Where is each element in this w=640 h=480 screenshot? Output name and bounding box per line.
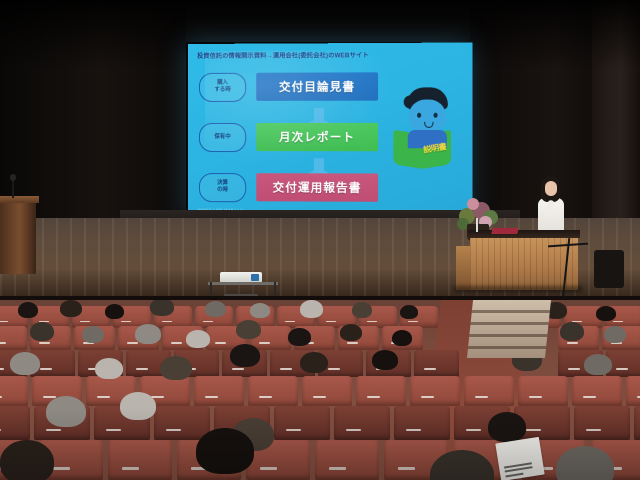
audience-member-head: [584, 354, 612, 375]
seat-number-tag: [328, 368, 340, 370]
seat-number-tag: [406, 429, 421, 431]
seat-number-tag: [408, 321, 418, 323]
audience-member-head: [60, 300, 82, 317]
stage-chair: [594, 250, 624, 288]
audience-member-head: [10, 352, 40, 375]
auditorium-seat: [302, 376, 352, 406]
audience-member-head: [596, 306, 616, 321]
audience-member-head: [160, 356, 192, 380]
seat-number-tag: [367, 396, 380, 398]
seat-number-tag: [0, 342, 6, 344]
seat-number-tag: [326, 321, 336, 323]
seat-number-tag: [568, 368, 580, 370]
boy-eye-right: [434, 113, 438, 118]
presenter-face: [545, 181, 557, 196]
auditorium-seat: [315, 440, 379, 480]
boy-mouth: [424, 122, 433, 128]
seat-number-tag: [215, 342, 226, 344]
seat-number-tag: [346, 429, 361, 431]
auditorium-seat: [108, 440, 172, 480]
audience-member-head: [46, 396, 86, 427]
seat-number-tag: [526, 429, 541, 431]
seat-number-tag: [232, 368, 244, 370]
phase-badge-holding: 保有中: [199, 122, 246, 151]
seat-number-tag: [313, 396, 326, 398]
audience-member-head: [300, 352, 328, 373]
slide-row-purchase: 購入 する時 交付目論見書: [199, 71, 391, 102]
audience-member-head: [135, 324, 161, 344]
auditorium-seat: [334, 406, 390, 440]
seat-number-tag: [0, 321, 8, 323]
seat-number-tag: [121, 321, 131, 323]
seat-number-tag: [46, 429, 61, 431]
seat-number-tag: [122, 467, 139, 470]
audience-member-head: [150, 300, 174, 316]
phase-line2: の時: [217, 187, 228, 194]
document-box-monthly-report: 月次レポート: [256, 123, 378, 151]
seat-number-tag: [136, 368, 148, 370]
seat-number-tag: [286, 429, 301, 431]
podium-papers: [491, 228, 518, 234]
seat-number-tag: [259, 396, 272, 398]
auditorium-seat: [154, 406, 210, 440]
seat-number-tag: [567, 342, 578, 344]
auditorium-seat: [0, 406, 30, 440]
audience-member-head: [488, 412, 526, 442]
side-podium: [0, 196, 36, 274]
boy-eye-left: [417, 113, 421, 118]
boy-reading-book-illustration: 説明書: [394, 87, 460, 172]
auditorium-seat: [0, 326, 27, 350]
auditorium-seat: [626, 376, 640, 406]
auditorium-seat: [634, 406, 640, 440]
seat-number-tag: [127, 342, 138, 344]
audience-member-head: [372, 350, 398, 370]
seat-number-tag: [0, 429, 1, 431]
seat-number-tag: [466, 429, 481, 431]
audience-member-head: [560, 322, 584, 341]
audience-member-head: [196, 428, 254, 474]
seat-number-tag: [475, 396, 488, 398]
auditorium-seat: [414, 350, 459, 377]
seat-number-tag: [616, 368, 628, 370]
screenshot-root: 投資信託の情報開示資料→運用会社(委託会社)のWEBサイト 購入 する時 交付目…: [0, 0, 640, 480]
seat-number-tag: [106, 429, 121, 431]
audience-member-head: [0, 440, 54, 480]
auditorium-seat: [394, 406, 450, 440]
seat-number-tag: [583, 396, 596, 398]
audience-member-head: [120, 392, 156, 420]
audience-member-head: [400, 305, 418, 319]
auditorium-seat: [248, 376, 298, 406]
seat-number-tag: [260, 467, 277, 470]
seat-number-tag: [424, 368, 436, 370]
auditorium-seat: [464, 376, 514, 406]
seat-number-tag: [39, 342, 50, 344]
aisle-stairs: [467, 300, 551, 358]
printed-handout: [495, 437, 544, 480]
phase-line2: する時: [214, 87, 230, 94]
auditorium-seat: [194, 376, 244, 406]
auditorium-seat: [356, 376, 406, 406]
seat-number-tag: [205, 396, 218, 398]
seat-number-tag: [259, 342, 270, 344]
slide-body: 購入 する時 交付目論見書 保有中 月次レポート: [188, 63, 473, 216]
audience-member-head: [288, 328, 311, 346]
audience-member-head: [82, 326, 104, 343]
boy-face: [409, 100, 446, 134]
slide-row-holding: 保有中 月次レポート: [199, 122, 391, 152]
seat-number-tag: [347, 342, 358, 344]
audience-member-head: [105, 304, 124, 319]
seat-number-tag: [367, 321, 377, 323]
seat-number-tag: [0, 368, 4, 370]
document-box-prospectus: 交付目論見書: [256, 72, 378, 101]
phase-badge-purchase: 購入 する時: [199, 72, 246, 101]
auditorium-seat: [518, 376, 568, 406]
phase-line1: 保有中: [214, 134, 230, 141]
seat-number-tag: [421, 396, 434, 398]
audience-member-head: [205, 301, 226, 317]
audience-member-head: [340, 324, 362, 341]
auditorium-seat: [274, 406, 330, 440]
auditorium-seat: [410, 376, 460, 406]
side-podium-microphone: [12, 178, 14, 198]
seat-number-tag: [40, 368, 52, 370]
projected-slide: 投資信託の情報開示資料→運用会社(委託会社)のWEBサイト 購入 する時 交付目…: [188, 42, 473, 217]
seat-number-tag: [529, 396, 542, 398]
document-box-management-report: 交付運用報告書: [256, 173, 378, 202]
seat-number-tag: [285, 321, 295, 323]
seat-number-tag: [398, 467, 415, 470]
audience-member-head: [250, 303, 270, 318]
seat-number-tag: [166, 429, 181, 431]
seat-number-tag: [53, 467, 70, 470]
seat-number-tag: [280, 368, 292, 370]
seat-number-tag: [97, 396, 110, 398]
seat-number-tag: [162, 321, 172, 323]
seat-number-tag: [171, 342, 182, 344]
audience-member-head: [18, 302, 38, 318]
audience-member-head: [392, 330, 412, 346]
audience-member-head: [604, 326, 626, 343]
seat-number-tag: [329, 467, 346, 470]
seat-number-tag: [586, 429, 601, 431]
projection-screen-frame: 投資信託の情報開示資料→運用会社(委託会社)のWEBサイト 購入 する時 交付目…: [186, 42, 470, 218]
auditorium-seat: [574, 406, 630, 440]
audience-member-head: [352, 302, 372, 318]
seat-number-tag: [613, 321, 623, 323]
seat-number-tag: [0, 396, 2, 398]
audience-member-head: [186, 330, 210, 348]
audience-member-head: [30, 322, 54, 341]
podium-microphone: [476, 218, 478, 232]
auditorium-seat: [0, 376, 28, 406]
auditorium-seat: [572, 376, 622, 406]
seat-number-tag: [203, 321, 213, 323]
phase-badge-settlement: 決算 の時: [199, 173, 246, 202]
slide-title: 投資信託の情報開示資料→運用会社(委託会社)のWEBサイト: [197, 50, 467, 60]
seat-number-tag: [80, 321, 90, 323]
phase-line1: 購入: [217, 80, 228, 87]
slide-row-settlement: 決算 の時 交付運用報告書: [199, 172, 391, 203]
main-podium: [470, 226, 578, 290]
audience-member-head: [95, 358, 123, 379]
audience-member-head: [230, 344, 260, 367]
audience-member-head: [300, 300, 323, 318]
audience-member-head: [236, 320, 261, 339]
